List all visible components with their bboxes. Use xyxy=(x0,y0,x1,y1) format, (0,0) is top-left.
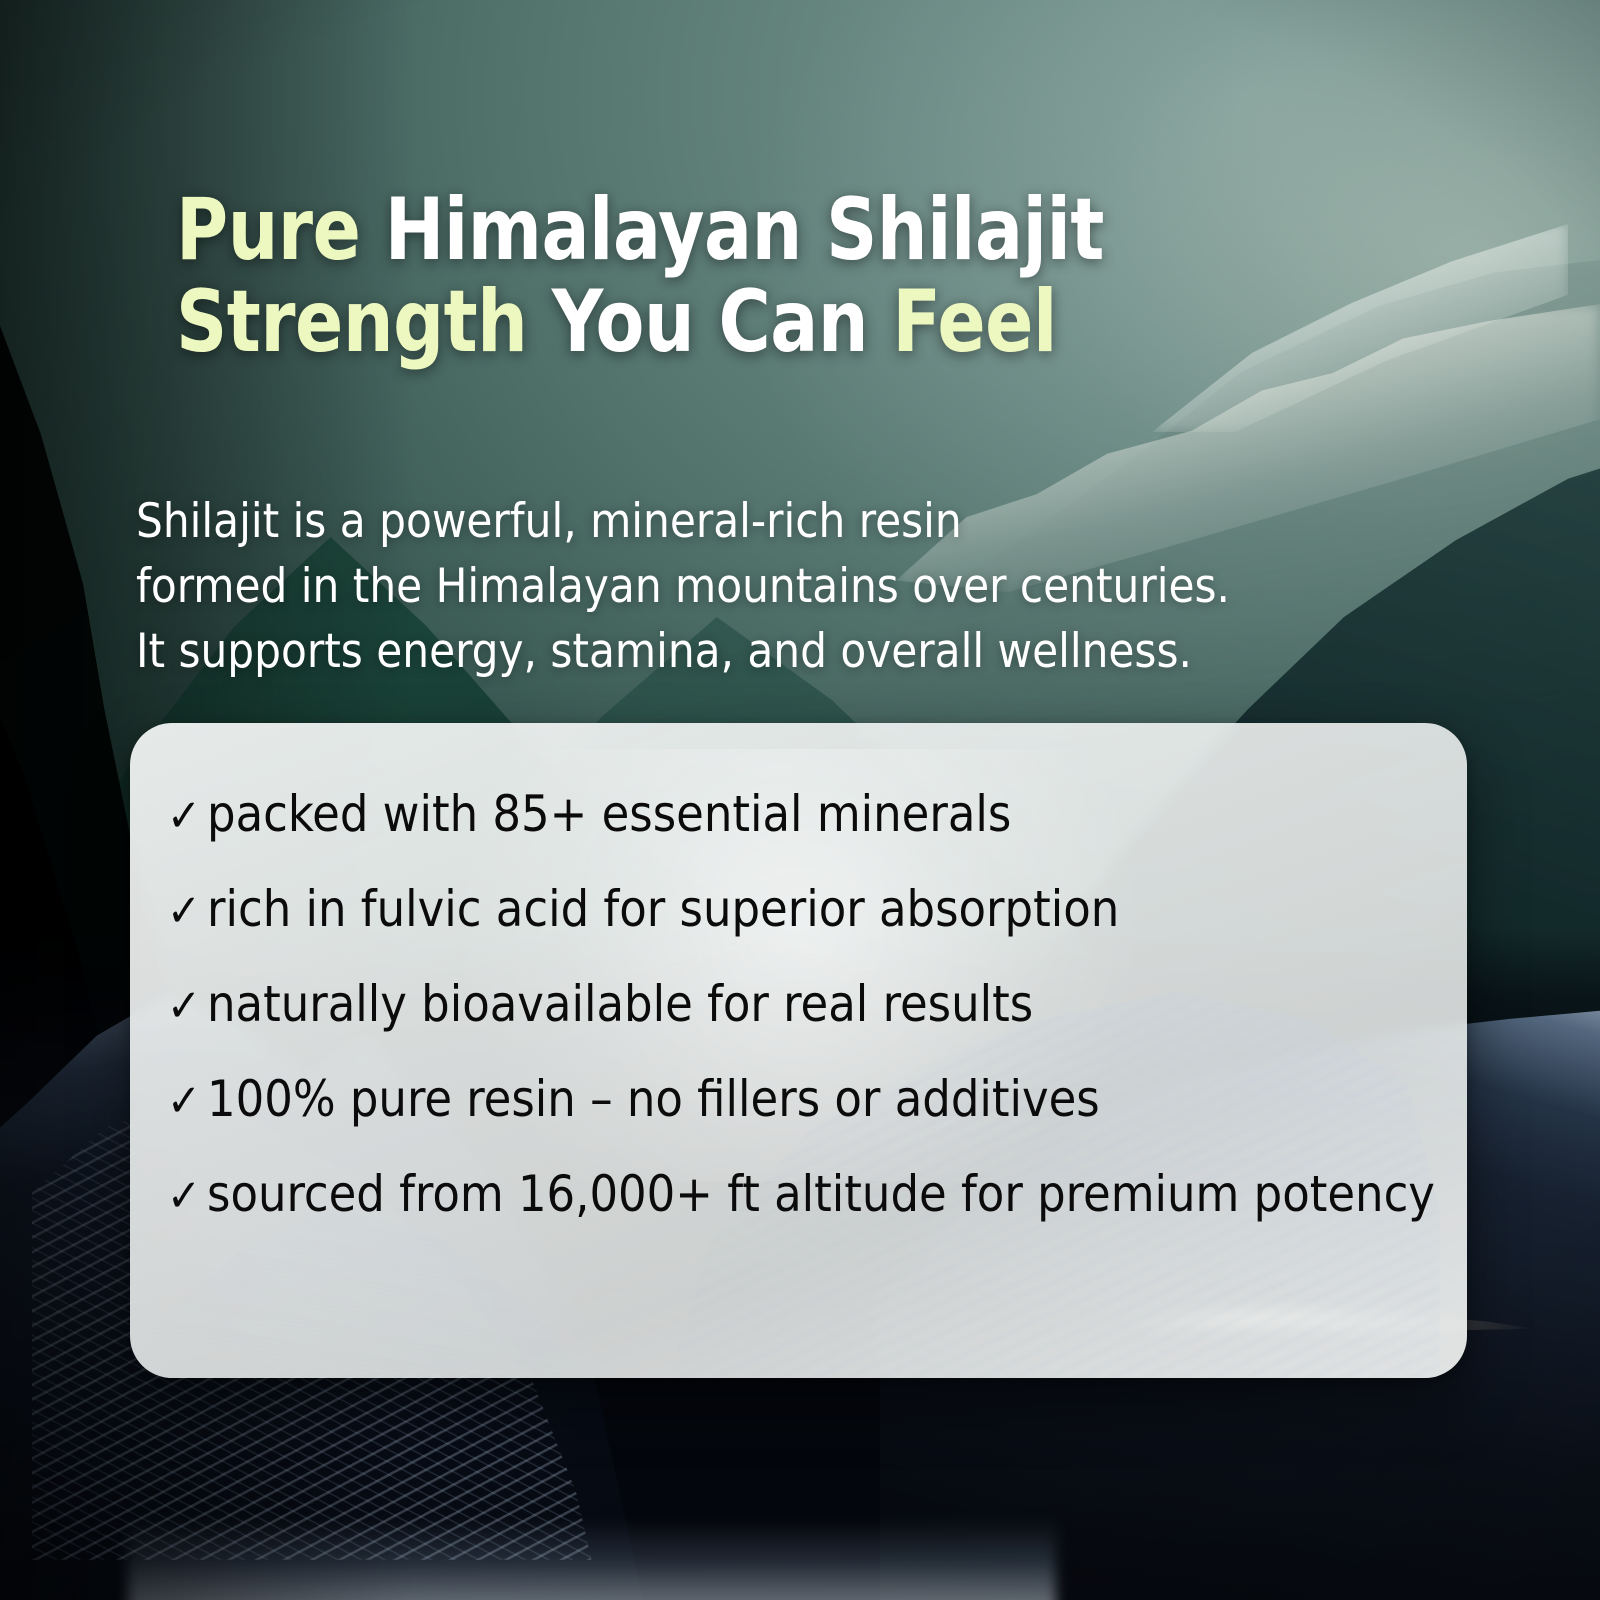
headline-rest-1: Himalayan Shilajit xyxy=(385,180,1104,280)
check-icon: ✓ xyxy=(167,983,207,1028)
headline-accent-pure: Pure xyxy=(176,180,385,280)
list-item: ✓ rich in fulvic acid for superior absor… xyxy=(167,880,1449,975)
page-title: Pure Himalayan Shilajit Strength You Can… xyxy=(176,184,1280,370)
benefits-list: ✓ packed with 85+ essential minerals ✓ r… xyxy=(167,785,1449,1260)
benefit-text: sourced from 16,000+ ft altitude for pre… xyxy=(207,1165,1435,1223)
headline-line-1: Pure Himalayan Shilajit xyxy=(176,184,1280,277)
promo-poster: Pure Himalayan Shilajit Strength You Can… xyxy=(0,0,1600,1600)
list-item: ✓ sourced from 16,000+ ft altitude for p… xyxy=(167,1165,1449,1260)
list-item: ✓ packed with 85+ essential minerals xyxy=(167,785,1449,880)
list-item: ✓ 100% pure resin – no fillers or additi… xyxy=(167,1070,1449,1165)
list-item: ✓ naturally bioavailable for real result… xyxy=(167,975,1449,1070)
check-icon: ✓ xyxy=(167,793,207,838)
benefit-text: rich in fulvic acid for superior absorpt… xyxy=(207,880,1119,938)
check-icon: ✓ xyxy=(167,1173,207,1218)
headline-mid-2: You Can xyxy=(552,272,893,372)
intro-line-3: It supports energy, stamina, and overall… xyxy=(136,619,1476,684)
headline-accent-feel: Feel xyxy=(892,272,1057,372)
benefit-text: 100% pure resin – no fillers or additive… xyxy=(207,1070,1100,1128)
check-icon: ✓ xyxy=(167,888,207,933)
headline-accent-strength: Strength xyxy=(176,272,552,372)
check-icon: ✓ xyxy=(167,1078,207,1123)
intro-line-2: formed in the Himalayan mountains over c… xyxy=(136,554,1476,619)
intro-paragraph: Shilajit is a powerful, mineral-rich res… xyxy=(136,489,1476,684)
rock-bottom-frost xyxy=(128,1519,1056,1600)
benefit-text: packed with 85+ essential minerals xyxy=(207,785,1011,843)
headline-line-2: Strength You Can Feel xyxy=(176,276,1280,369)
benefit-text: naturally bioavailable for real results xyxy=(207,975,1033,1033)
intro-line-1: Shilajit is a powerful, mineral-rich res… xyxy=(136,489,1476,554)
benefits-card: ✓ packed with 85+ essential minerals ✓ r… xyxy=(130,723,1467,1378)
